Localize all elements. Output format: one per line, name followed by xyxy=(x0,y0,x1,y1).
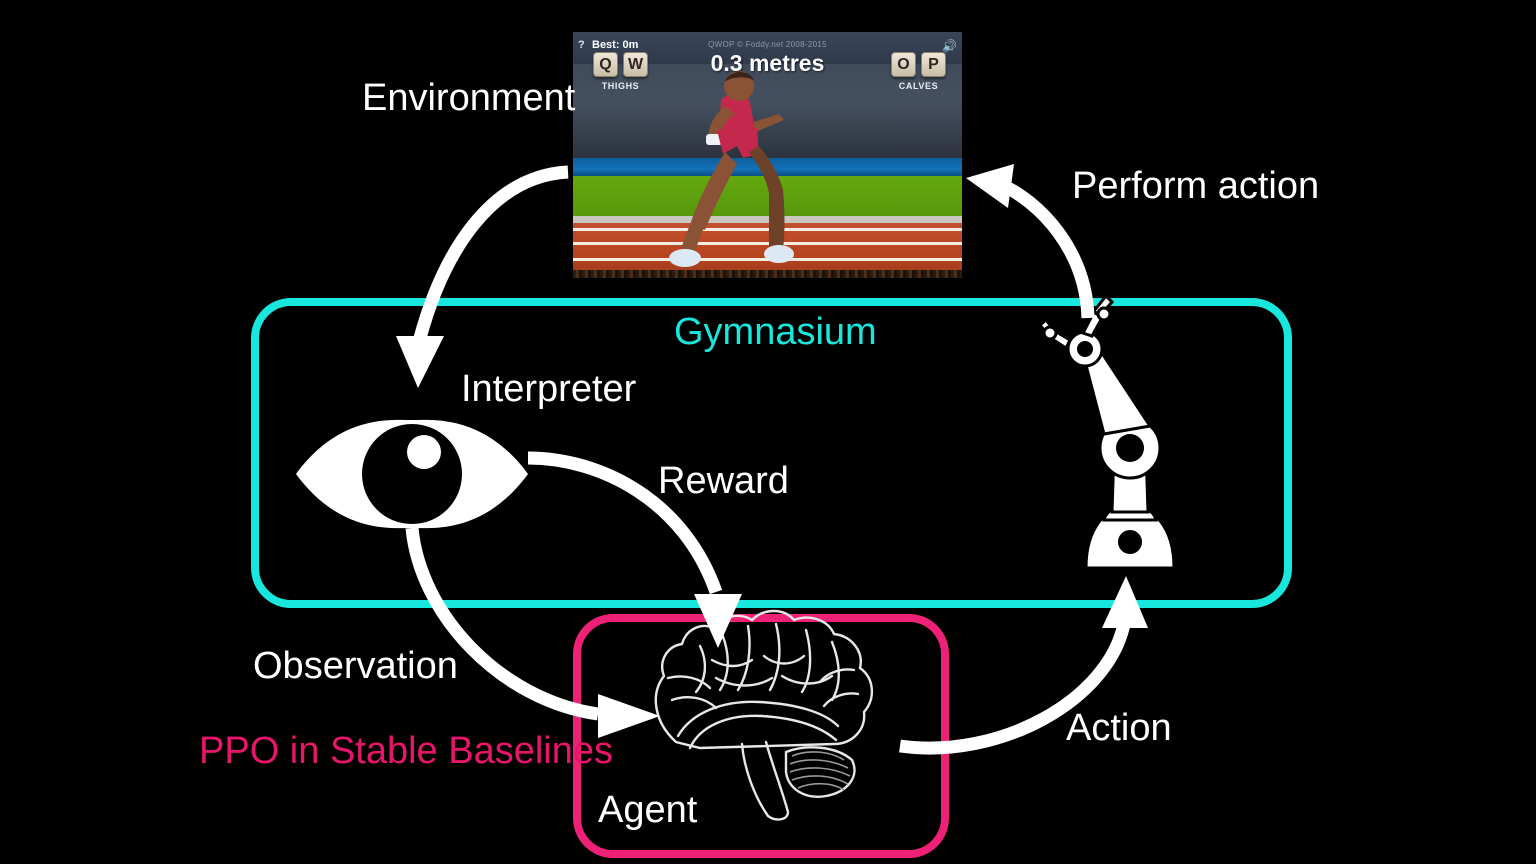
arrow-robot-to-environment xyxy=(966,164,1088,318)
qwop-runner-figure xyxy=(651,62,811,277)
qwop-calf-keys-label: CALVES xyxy=(891,81,946,91)
diagram-canvas: ? Best: 0m QWOP © Foddy.net 2008-2015 0.… xyxy=(0,0,1536,864)
speaker-icon[interactable]: 🔊 xyxy=(942,39,957,53)
label-reward: Reward xyxy=(658,462,789,500)
label-gymnasium: Gymnasium xyxy=(674,313,877,351)
qwop-thigh-keys-label: THIGHS xyxy=(593,81,648,91)
label-interpreter: Interpreter xyxy=(461,370,636,408)
label-agent: Agent xyxy=(598,791,697,829)
qwop-copyright: QWOP © Foddy.net 2008-2015 xyxy=(573,40,962,49)
key-q[interactable]: Q xyxy=(593,52,618,77)
environment-qwop-screenshot[interactable]: ? Best: 0m QWOP © Foddy.net 2008-2015 0.… xyxy=(573,32,962,278)
key-o[interactable]: O xyxy=(891,52,916,77)
label-ppo-in-stable-baselines: PPO in Stable Baselines xyxy=(199,732,613,770)
label-perform-action: Perform action xyxy=(1072,167,1319,205)
qwop-calf-keys: O P CALVES xyxy=(891,52,946,91)
label-action: Action xyxy=(1066,709,1172,747)
key-p[interactable]: P xyxy=(921,52,946,77)
qwop-thigh-keys: Q W THIGHS xyxy=(593,52,648,91)
label-observation: Observation xyxy=(253,647,458,685)
label-environment: Environment xyxy=(362,79,575,117)
key-w[interactable]: W xyxy=(623,52,648,77)
